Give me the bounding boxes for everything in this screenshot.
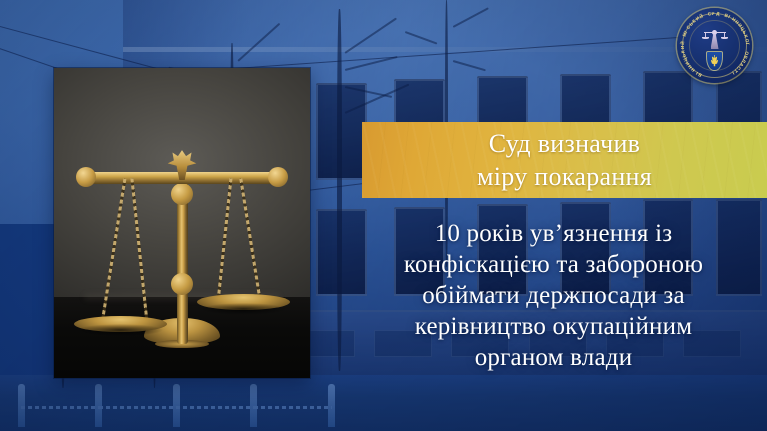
title-banner: Суд визначив міру покарання — [362, 122, 767, 198]
scales-chain-right-b — [216, 178, 232, 302]
body-line-1: 10 років ув’язнення із — [340, 218, 767, 249]
scales-pan-right — [197, 294, 289, 310]
title-line-2: міру покарання — [477, 160, 652, 193]
title-line-1: Суд визначив — [489, 127, 641, 160]
scales-of-justice-photo — [54, 68, 310, 378]
announcement-card: Суд визначив міру покарання 10 років ув’… — [0, 0, 767, 431]
body-line-3: обіймати держпосади за — [340, 280, 767, 311]
body-line-4: керівництво окупаційним — [340, 311, 767, 342]
scales-chain-left-b — [131, 178, 149, 323]
scales-chain-left-a — [100, 179, 126, 323]
scales-lower-knob — [171, 273, 193, 295]
lady-justice-icon — [702, 25, 728, 51]
scales-pan-left — [74, 316, 166, 332]
scales-graphic — [54, 68, 310, 378]
sentence-description: 10 років ув’язнення із конфіскацією та з… — [340, 218, 767, 373]
court-seal-icon: ВІННИЦЬКИЙ МІСЬКИЙ СУД ВІННИЦЬКОЇ ОБЛАСТ… — [677, 8, 752, 83]
scales-chain-right-a — [240, 179, 262, 302]
scales-upper-knob — [171, 183, 193, 205]
body-line-2: конфіскацією та забороною — [340, 249, 767, 280]
body-line-5: органом влади — [340, 342, 767, 373]
